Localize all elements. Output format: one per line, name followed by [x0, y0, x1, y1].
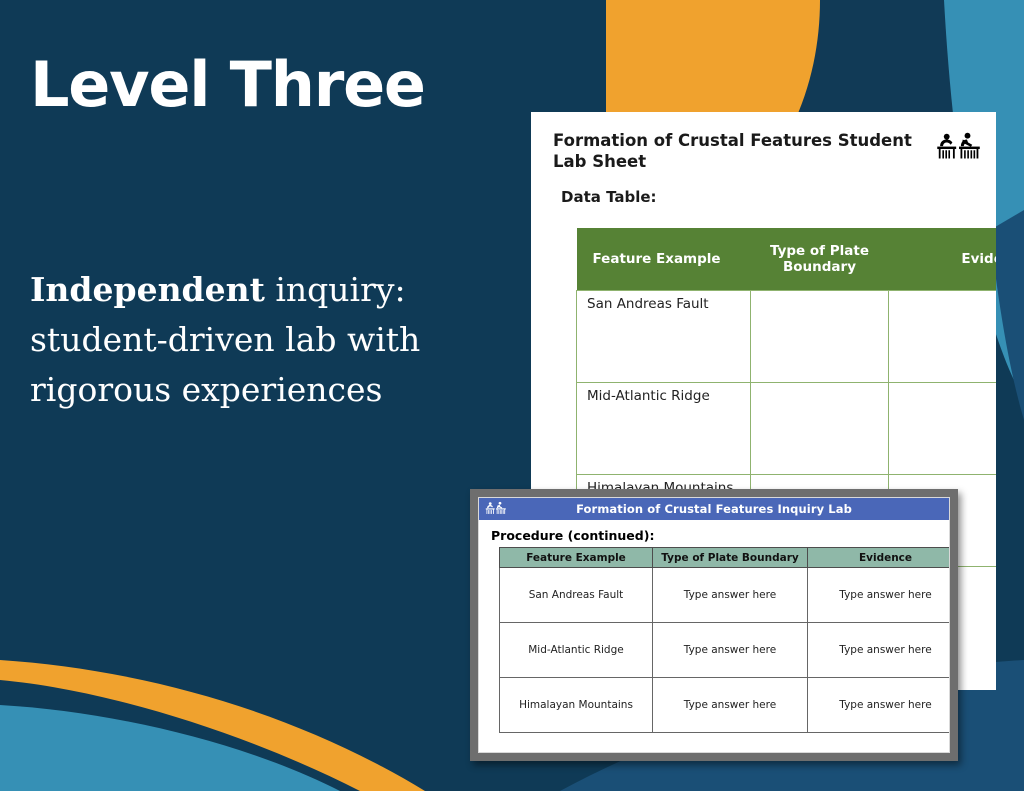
column-header-feature-example: Feature Example	[500, 548, 653, 568]
window-titlebar[interactable]: Formation of Crustal Features Inquiry La…	[479, 498, 949, 520]
column-header-type-of-plate-boundary: Type of Plate Boundary	[653, 548, 808, 568]
body-block: Independent inquiry: student-driven lab …	[30, 265, 520, 415]
column-header-evidence: Evidence	[808, 548, 951, 568]
data-table-label: Data Table:	[561, 188, 996, 206]
window-content: Formation of Crustal Features Inquiry La…	[478, 497, 950, 753]
table-row: Himalayan Mountains Type answer here Typ…	[500, 678, 951, 733]
answer-field-boundary[interactable]: Type answer here	[653, 568, 808, 623]
cell-boundary[interactable]	[751, 291, 889, 383]
column-header-feature-example: Feature Example	[577, 228, 751, 291]
answer-field-evidence[interactable]: Type answer here	[808, 678, 951, 733]
table-row: San Andreas Fault Type answer here Type …	[500, 568, 951, 623]
inquiry-lab-window[interactable]: Formation of Crustal Features Inquiry La…	[470, 489, 958, 761]
cell-feature: Mid-Atlantic Ridge	[577, 383, 751, 475]
document-title: Formation of Crustal Features Student La…	[553, 130, 936, 172]
cell-boundary[interactable]	[751, 383, 889, 475]
table-header-row: Feature Example Type of Plate Boundary E…	[500, 548, 951, 568]
cell-feature: San Andreas Fault	[500, 568, 653, 623]
table-row: Mid-Atlantic Ridge	[577, 383, 997, 475]
students-at-desks-icon	[936, 131, 982, 165]
window-title: Formation of Crustal Features Inquiry La…	[479, 502, 949, 516]
answer-field-evidence[interactable]: Type answer here	[808, 623, 951, 678]
title-block: Level Three	[30, 54, 500, 116]
cell-feature: Himalayan Mountains	[500, 678, 653, 733]
column-header-type-of-plate-boundary: Type of Plate Boundary	[751, 228, 889, 291]
cell-evidence[interactable]	[889, 291, 997, 383]
slide-canvas: Level Three Independent inquiry: student…	[0, 0, 1024, 791]
answer-field-boundary[interactable]: Type answer here	[653, 678, 808, 733]
table-row: San Andreas Fault	[577, 291, 997, 383]
table-header-row: Feature Example Type of Plate Boundary E…	[577, 228, 997, 291]
body-text-lead: Independent	[30, 270, 265, 309]
answer-field-boundary[interactable]: Type answer here	[653, 623, 808, 678]
table-row: Mid-Atlantic Ridge Type answer here Type…	[500, 623, 951, 678]
cell-feature: San Andreas Fault	[577, 291, 751, 383]
procedure-label: Procedure (continued):	[491, 528, 937, 543]
answer-field-evidence[interactable]: Type answer here	[808, 568, 951, 623]
column-header-evidence: Evidence	[889, 228, 997, 291]
procedure-answer-table: Feature Example Type of Plate Boundary E…	[499, 547, 950, 733]
window-body: Procedure (continued): Feature Example T…	[479, 520, 949, 733]
page-title: Level Three	[30, 54, 500, 116]
document-header: Formation of Crustal Features Student La…	[531, 112, 996, 172]
cell-feature: Mid-Atlantic Ridge	[500, 623, 653, 678]
body-text: Independent inquiry: student-driven lab …	[30, 265, 520, 415]
cell-evidence[interactable]	[889, 383, 997, 475]
